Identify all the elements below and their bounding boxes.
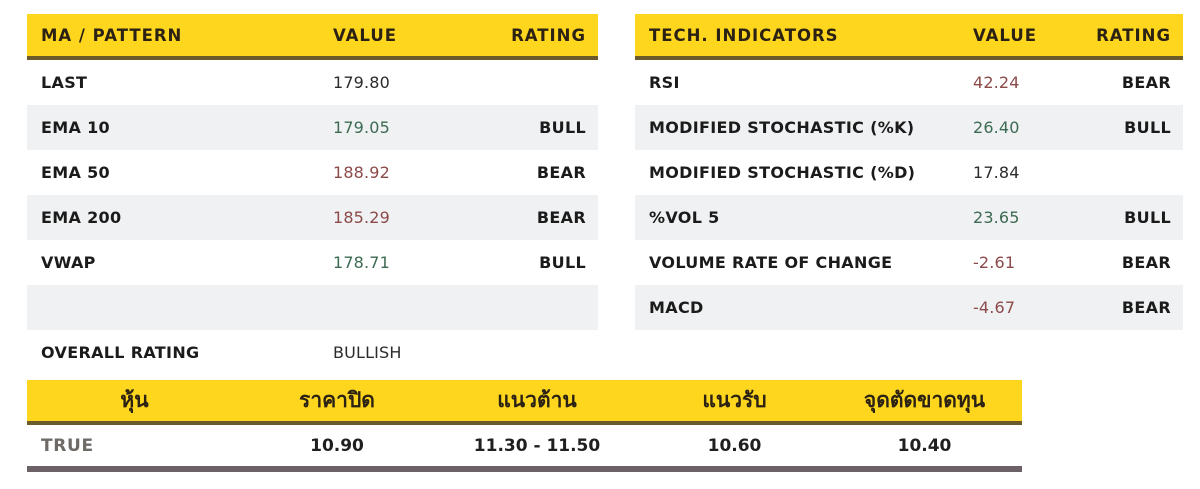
ma-row-value: 179.05 (327, 118, 487, 137)
tech-row-name: RSI (635, 73, 965, 92)
table-row: MODIFIED STOCHASTIC (%D) 17.84 (635, 150, 1183, 195)
tech-row-value: -4.67 (965, 298, 1073, 317)
tech-row-name: %VOL 5 (635, 208, 965, 227)
tech-row-rating: BEAR (1073, 73, 1183, 92)
overall-rating-value: BULLISH (327, 343, 487, 362)
thai-header-support: แนวรับ (642, 384, 827, 417)
tech-row-name: MODIFIED STOCHASTIC (%K) (635, 118, 965, 137)
tech-row-value: 23.65 (965, 208, 1073, 227)
tech-header-value: VALUE (965, 26, 1073, 45)
ma-row-value: 188.92 (327, 163, 487, 182)
ma-header-name: MA / PATTERN (27, 26, 327, 45)
tech-row-name: VOLUME RATE OF CHANGE (635, 253, 965, 272)
tech-row-value: 26.40 (965, 118, 1073, 137)
table-row: EMA 200 185.29 BEAR (27, 195, 598, 240)
table-row: RSI 42.24 BEAR (635, 60, 1183, 105)
ma-row-value: 178.71 (327, 253, 487, 272)
table-row: VWAP 178.71 BULL (27, 240, 598, 285)
tech-row-value: -2.61 (965, 253, 1073, 272)
tech-indicators-table: TECH. INDICATORS VALUE RATING RSI 42.24 … (635, 14, 1183, 330)
ma-row-name: LAST (27, 73, 327, 92)
thai-cell-support: 10.60 (642, 436, 827, 456)
bottom-divider (27, 466, 1022, 472)
thai-cell-close: 10.90 (242, 436, 432, 456)
tech-header-rating: RATING (1073, 26, 1183, 45)
table-row: LAST 179.80 (27, 60, 598, 105)
ma-pattern-table: MA / PATTERN VALUE RATING LAST 179.80 EM… (27, 14, 598, 375)
tech-indicators-table-header: TECH. INDICATORS VALUE RATING (635, 14, 1183, 60)
tech-row-value: 17.84 (965, 163, 1073, 182)
thai-header-close: ราคาปิด (242, 384, 432, 417)
tech-row-value: 42.24 (965, 73, 1073, 92)
tech-row-name: MACD (635, 298, 965, 317)
ma-pattern-table-header: MA / PATTERN VALUE RATING (27, 14, 598, 60)
tech-row-rating: BEAR (1073, 298, 1183, 317)
ma-header-value: VALUE (327, 26, 487, 45)
ma-row-value: 185.29 (327, 208, 487, 227)
ma-row-rating: BULL (487, 253, 598, 272)
ma-row-value: 179.80 (327, 73, 487, 92)
thai-header-stoploss: จุดตัดขาดทุน (827, 384, 1022, 417)
overall-rating-row: OVERALL RATING BULLISH (27, 330, 598, 375)
table-row: MACD -4.67 BEAR (635, 285, 1183, 330)
thai-cell-ticker: TRUE (27, 436, 242, 456)
stock-levels-table-header: หุ้น ราคาปิด แนวต้าน แนวรับ จุดตัดขาดทุน (27, 380, 1022, 425)
table-row: EMA 50 188.92 BEAR (27, 150, 598, 195)
thai-cell-resistance: 11.30 - 11.50 (432, 436, 642, 456)
ma-row-rating: BEAR (487, 163, 598, 182)
table-row: TRUE 10.90 11.30 - 11.50 10.60 10.40 (27, 425, 1022, 467)
table-row-empty (27, 285, 598, 330)
table-row: MODIFIED STOCHASTIC (%K) 26.40 BULL (635, 105, 1183, 150)
table-row: VOLUME RATE OF CHANGE -2.61 BEAR (635, 240, 1183, 285)
tech-row-rating: BULL (1073, 208, 1183, 227)
ma-row-name: EMA 200 (27, 208, 327, 227)
tech-row-rating: BEAR (1073, 253, 1183, 272)
thai-header-stock: หุ้น (27, 384, 242, 417)
thai-header-resistance: แนวต้าน (432, 384, 642, 417)
table-row: %VOL 5 23.65 BULL (635, 195, 1183, 240)
thai-cell-stoploss: 10.40 (827, 436, 1022, 456)
ma-row-rating: BEAR (487, 208, 598, 227)
stock-levels-table: หุ้น ราคาปิด แนวต้าน แนวรับ จุดตัดขาดทุน… (27, 380, 1022, 467)
table-row: EMA 10 179.05 BULL (27, 105, 598, 150)
tech-row-name: MODIFIED STOCHASTIC (%D) (635, 163, 965, 182)
ma-row-name: EMA 10 (27, 118, 327, 137)
ma-row-name: EMA 50 (27, 163, 327, 182)
tech-header-name: TECH. INDICATORS (635, 26, 965, 45)
ma-row-rating: BULL (487, 118, 598, 137)
tech-row-rating: BULL (1073, 118, 1183, 137)
ma-row-name: VWAP (27, 253, 327, 272)
overall-rating-label: OVERALL RATING (27, 343, 327, 362)
ma-header-rating: RATING (487, 26, 598, 45)
